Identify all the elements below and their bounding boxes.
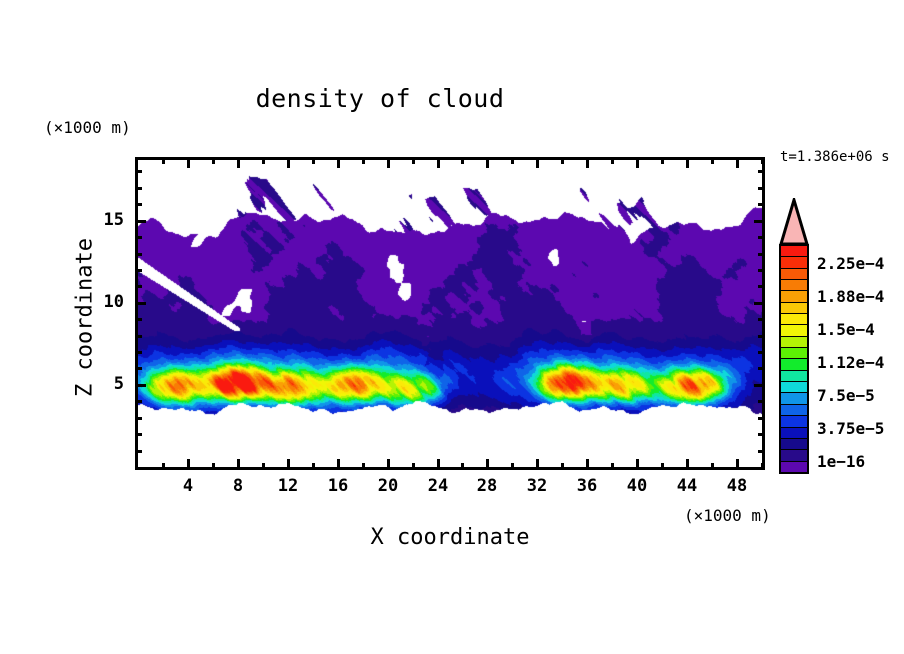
x-axis-title: X coordinate [135, 525, 765, 550]
axis-tick [187, 459, 190, 470]
colorbar-segment [781, 348, 807, 359]
axis-tick [287, 459, 290, 470]
x-tick-label: 12 [266, 476, 310, 496]
axis-tick [761, 157, 764, 164]
axis-tick [758, 269, 765, 272]
colorbar-segment [781, 337, 807, 348]
axis-tick [758, 170, 765, 173]
x-tick-label: 48 [715, 476, 759, 496]
colorbar-segment [781, 405, 807, 416]
colorbar-segment [781, 393, 807, 404]
axis-tick [758, 400, 765, 403]
y-axis-title: Z coordinate [73, 208, 98, 428]
colorbar-tick-label: 1.88e−4 [817, 287, 884, 306]
colorbar-segment [781, 462, 807, 472]
axis-tick [437, 157, 440, 168]
x-tick-label: 32 [515, 476, 559, 496]
axis-tick [758, 187, 765, 190]
axis-tick [758, 433, 765, 436]
axis-tick [661, 157, 664, 164]
axis-tick [461, 157, 464, 164]
axis-tick [135, 335, 142, 338]
axis-tick [135, 220, 146, 223]
axis-tick [636, 157, 639, 168]
colorbar-tick-label: 3.75e−5 [817, 419, 884, 438]
axis-tick [754, 220, 765, 223]
axis-tick [312, 157, 315, 164]
colorbar-segment [781, 371, 807, 382]
contour-field-canvas [138, 160, 762, 467]
axis-tick [711, 157, 714, 164]
colorbar-tick-label: 2.25e−4 [817, 254, 884, 273]
colorbar-segment [781, 359, 807, 370]
axis-tick [135, 417, 142, 420]
colorbar-overflow-arrow-icon [779, 198, 809, 246]
x-tick-label: 16 [316, 476, 360, 496]
x-tick-label: 4 [166, 476, 210, 496]
axis-tick [636, 459, 639, 470]
axis-tick [135, 384, 146, 387]
x-tick-label: 20 [366, 476, 410, 496]
colorbar-segment [781, 269, 807, 280]
axis-tick [686, 459, 689, 470]
axis-tick [758, 203, 765, 206]
colorbar-segment [781, 416, 807, 427]
axis-tick [736, 157, 739, 168]
colorbar-segment [781, 439, 807, 450]
axis-tick [758, 236, 765, 239]
colorbar-tick-label: 1.5e−4 [817, 320, 875, 339]
axis-tick [412, 157, 415, 164]
axis-tick [758, 367, 765, 370]
axis-tick [212, 463, 215, 470]
axis-tick [711, 463, 714, 470]
colorbar-segment [781, 280, 807, 291]
axis-tick [135, 367, 142, 370]
colorbar-tick-label: 1e−16 [817, 452, 865, 471]
axis-tick [237, 157, 240, 168]
colorbar-segment [781, 325, 807, 336]
axis-tick [437, 459, 440, 470]
colorbar-tick-label: 1.12e−4 [817, 353, 884, 372]
x-tick-label: 36 [565, 476, 609, 496]
axis-tick [135, 351, 142, 354]
axis-tick [754, 384, 765, 387]
axis-tick [536, 459, 539, 470]
axis-tick [758, 351, 765, 354]
axis-tick [761, 463, 764, 470]
axis-tick [611, 157, 614, 164]
axis-tick [754, 302, 765, 305]
figure-root: density of cloud (×1000 m) t=1.386e+06 s… [0, 0, 904, 654]
colorbar-segment [781, 303, 807, 314]
axis-tick [758, 417, 765, 420]
axis-tick [135, 269, 142, 272]
axis-tick [387, 157, 390, 168]
x-tick-label: 40 [615, 476, 659, 496]
x-tick-label: 44 [665, 476, 709, 496]
axis-tick [686, 157, 689, 168]
axis-tick [237, 459, 240, 470]
x-axis-units-label: (×1000 m) [684, 506, 771, 525]
axis-tick [561, 157, 564, 164]
axis-tick [758, 253, 765, 256]
colorbar-segment [781, 450, 807, 461]
axis-tick [135, 253, 142, 256]
colorbar-segment [781, 382, 807, 393]
axis-tick [135, 318, 142, 321]
colorbar-tick-label: 7.5e−5 [817, 386, 875, 405]
colorbar-segment [781, 428, 807, 439]
axis-tick [758, 318, 765, 321]
page-title: density of cloud [0, 84, 760, 113]
axis-tick [611, 463, 614, 470]
axis-tick [586, 459, 589, 470]
axis-tick [586, 157, 589, 168]
axis-tick [135, 450, 142, 453]
axis-tick [135, 236, 142, 239]
x-tick-label: 8 [216, 476, 260, 496]
axis-tick [387, 459, 390, 470]
axis-tick [536, 157, 539, 168]
axis-tick [287, 157, 290, 168]
axis-tick [337, 157, 340, 168]
axis-tick [486, 157, 489, 168]
axis-tick [212, 157, 215, 164]
axis-tick [162, 463, 165, 470]
x-tick-label: 28 [465, 476, 509, 496]
axis-tick [262, 157, 265, 164]
axis-tick [135, 433, 142, 436]
colorbar-segment [781, 246, 807, 257]
axis-tick [461, 463, 464, 470]
axis-tick [162, 157, 165, 164]
axis-tick [135, 203, 142, 206]
axis-tick [362, 463, 365, 470]
colorbar-gradient-strip [779, 244, 809, 474]
axis-tick [135, 302, 146, 305]
axis-tick [412, 463, 415, 470]
axis-tick [135, 400, 142, 403]
axis-tick [135, 170, 142, 173]
timestamp-annotation: t=1.386e+06 s [780, 149, 890, 165]
axis-tick [736, 459, 739, 470]
axis-tick [561, 463, 564, 470]
colorbar-segment [781, 257, 807, 268]
plot-area [135, 157, 765, 470]
axis-tick [187, 157, 190, 168]
x-tick-label: 24 [416, 476, 460, 496]
axis-tick [758, 335, 765, 338]
axis-tick [511, 463, 514, 470]
colorbar-segment [781, 314, 807, 325]
axis-tick [135, 285, 142, 288]
colorbar: 2.25e−41.88e−41.5e−41.12e−47.5e−53.75e−5… [775, 198, 904, 478]
axis-tick [486, 459, 489, 470]
axis-tick [661, 463, 664, 470]
axis-tick [758, 450, 765, 453]
axis-tick [362, 157, 365, 164]
y-axis-units-label: (×1000 m) [44, 118, 131, 137]
axis-tick [511, 157, 514, 164]
axis-tick [758, 285, 765, 288]
axis-tick [337, 459, 340, 470]
axis-tick [262, 463, 265, 470]
colorbar-segment [781, 291, 807, 302]
axis-tick [135, 187, 142, 190]
axis-tick [312, 463, 315, 470]
